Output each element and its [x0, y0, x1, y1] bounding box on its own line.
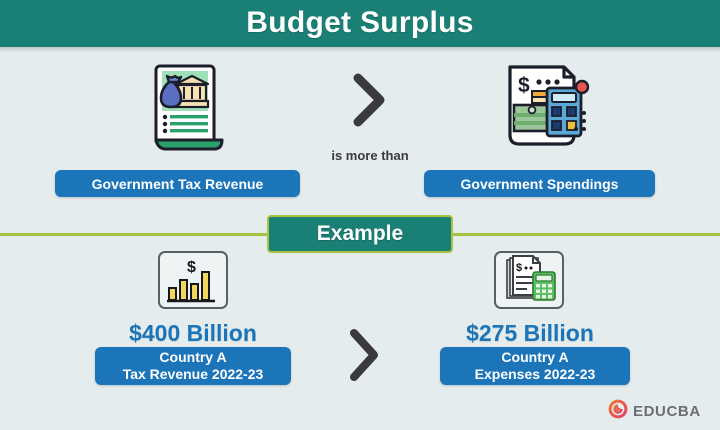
svg-text:$: $ — [518, 74, 530, 97]
country-a-tax-revenue-line2: Tax Revenue 2022-23 — [123, 366, 264, 383]
tax-revenue-amount: $400 Billion — [83, 320, 303, 347]
educba-logo: EDUCBA — [607, 398, 701, 425]
government-spendings-label: Government Spendings — [424, 170, 655, 197]
country-a-expenses-line2: Expenses 2022-23 — [475, 366, 596, 383]
page-title: Budget Surplus — [0, 4, 720, 42]
country-a-expenses-label: Country A Expenses 2022-23 — [440, 347, 630, 385]
example-badge-label: Example — [317, 222, 403, 246]
comparator-caption: is more than — [320, 148, 420, 163]
greater-than-chevron-icon-top — [345, 70, 395, 130]
budget-surplus-infographic: Budget Surplus — [0, 0, 720, 430]
expenses-amount: $275 Billion — [420, 320, 640, 347]
svg-text:$: $ — [187, 259, 196, 276]
country-a-tax-revenue-label: Country A Tax Revenue 2022-23 — [95, 347, 291, 385]
tax-document-icon — [138, 60, 238, 160]
educba-swirl-icon — [607, 398, 629, 425]
country-a-tax-revenue-line1: Country A — [159, 349, 226, 366]
government-tax-revenue-text: Government Tax Revenue — [92, 176, 264, 192]
bar-chart-dollar-icon: $ — [157, 250, 229, 310]
example-badge: Example — [267, 215, 453, 253]
comparator-caption-line1: is more — [331, 148, 377, 163]
greater-than-chevron-icon-bottom — [340, 325, 390, 385]
government-tax-revenue-label: Government Tax Revenue — [55, 170, 300, 197]
country-a-expenses-line1: Country A — [501, 349, 568, 366]
svg-text:$: $ — [516, 262, 522, 274]
receipt-calculator-icon: $ — [493, 250, 565, 310]
educba-logo-text: EDUCBA — [633, 403, 701, 420]
comparator-caption-line2: than — [381, 148, 408, 163]
header-shadow — [0, 47, 720, 52]
invoice-calculator-icon: $ — [492, 55, 597, 160]
government-spendings-text: Government Spendings — [461, 176, 619, 192]
